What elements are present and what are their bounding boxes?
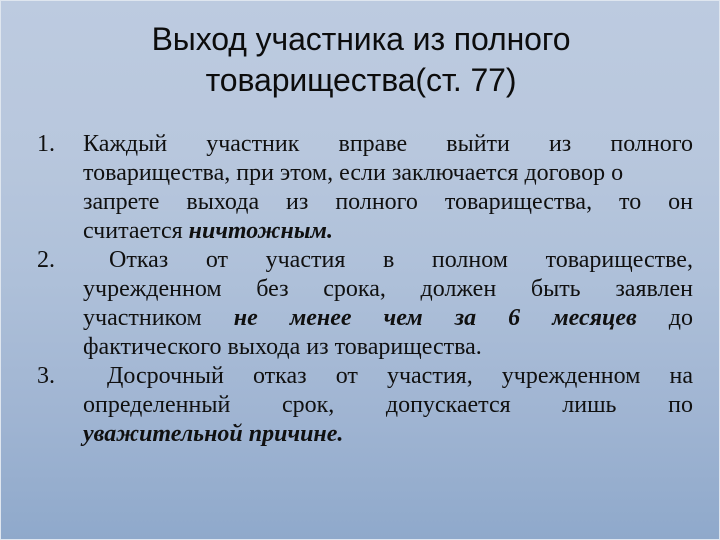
list-item-3-emphasis: уважительной причине. bbox=[83, 421, 343, 447]
list-item-2: 2. Отказ от участия в полном товариществ… bbox=[31, 246, 693, 362]
list-item-1-text: Каждый участник вправе выйти из полного … bbox=[83, 130, 693, 246]
list-item-3-line-2: определенный срок, допускается лишь по bbox=[83, 391, 693, 420]
slide-title: Выход участника из полного товарищества(… bbox=[37, 19, 685, 101]
slide-canvas: Выход участника из полного товарищества(… bbox=[0, 0, 720, 540]
list-item-1: 1. Каждый участник вправе выйти из полно… bbox=[31, 130, 693, 246]
list-item-2-text: Отказ от участия в полном товариществе, … bbox=[83, 246, 693, 362]
list-item-3-number: 3. bbox=[37, 362, 71, 391]
list-item-1-line-2: товарищества, при этом, если заключается… bbox=[83, 159, 693, 188]
title-line-1: Выход участника из полного bbox=[37, 19, 685, 60]
list-item-2-number: 2. bbox=[37, 246, 71, 275]
list-item-3-line-3: уважительной причине. bbox=[83, 420, 693, 449]
list-item-3: 3. Досрочный отказ от участия, учрежденн… bbox=[31, 362, 693, 449]
list-item-1-emphasis: ничтожным. bbox=[189, 218, 333, 244]
list-item-1-line-3: запрете выхода из полного товарищества, … bbox=[83, 188, 693, 217]
list-item-1-line-4: считается ничтожным. bbox=[83, 217, 693, 246]
list-item-3-text: Досрочный отказ от участия, учрежденном … bbox=[83, 362, 693, 449]
list-item-1-line-4-plain: считается bbox=[83, 218, 189, 244]
list-item-2-line-4: фактического выхода из товарищества. bbox=[83, 333, 693, 362]
list-item-2-line-3: участником не менее чем за 6 месяцев до bbox=[83, 304, 693, 333]
list-item-1-number: 1. bbox=[37, 130, 71, 159]
slide-body: 1. Каждый участник вправе выйти из полно… bbox=[31, 130, 693, 449]
list-item-2-line-2: учрежденном без срока, должен быть заявл… bbox=[83, 275, 693, 304]
list-item-3-line-1: Досрочный отказ от участия, учрежденном … bbox=[83, 362, 693, 391]
list-item-1-line-1: Каждый участник вправе выйти из полного bbox=[83, 130, 693, 159]
title-line-2: товарищества(ст. 77) bbox=[37, 60, 685, 101]
list-item-2-line-1: Отказ от участия в полном товариществе, bbox=[83, 246, 693, 275]
